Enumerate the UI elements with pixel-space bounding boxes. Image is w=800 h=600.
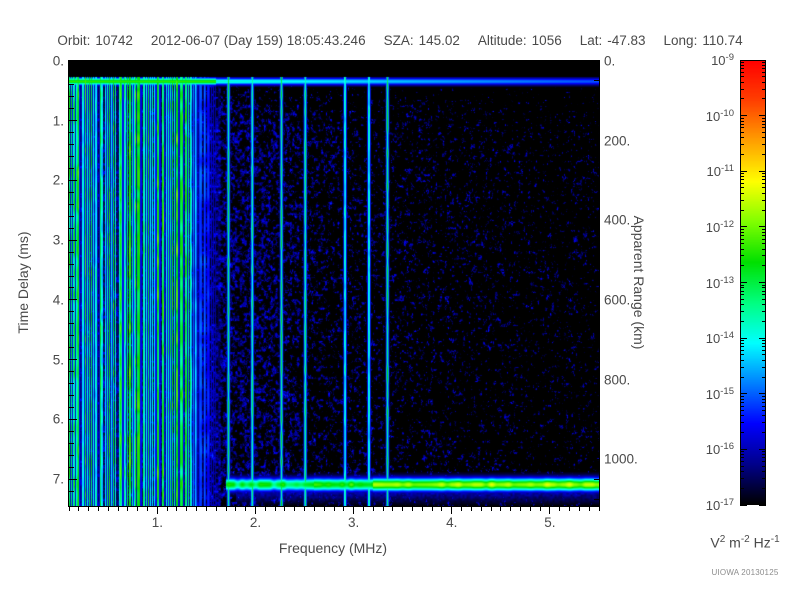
colorbar-tick-label: 10-9 [711, 52, 734, 68]
colorbar-tick-minor [740, 229, 744, 230]
x-tick-minor [343, 506, 344, 511]
y-tick-major [69, 240, 77, 241]
x-tick-minor [137, 506, 138, 511]
colorbar-tick-minor [740, 132, 744, 133]
colorbar-tick-minor [762, 200, 766, 201]
y-tick-minor [69, 264, 74, 265]
y-tick-minor [69, 228, 74, 229]
colorbar-tick-minor [762, 377, 766, 378]
colorbar-tick-minor [762, 183, 766, 184]
colorbar-tick-minor [762, 422, 766, 423]
x-tick-minor [284, 506, 285, 511]
y-tick-major [69, 299, 77, 300]
colorbar-tick-minor [762, 291, 766, 292]
colorbar-tick-minor [740, 294, 744, 295]
colorbar-tick-major [759, 393, 766, 394]
colorbar-tick-minor [762, 321, 766, 322]
y-axis-left-tick-label: 2. [53, 173, 64, 188]
colorbar-tick-minor [762, 265, 766, 266]
colorbar-tick-minor [740, 173, 744, 174]
y-right-tick-major [591, 61, 599, 62]
x-axis-tick-label: 4. [446, 515, 457, 530]
colorbar-tick-minor [740, 72, 744, 73]
spectrogram-image [69, 61, 599, 506]
colorbar-tick-major [740, 338, 747, 339]
x-tick-minor [520, 506, 521, 511]
colorbar-tick-minor [740, 255, 744, 256]
colorbar-tick-minor [740, 154, 744, 155]
y-right-tick-minor [594, 200, 599, 201]
header-field-label-0: Orbit: [57, 33, 90, 48]
header-field-value-0: 10742 [95, 33, 133, 48]
x-tick-minor [176, 506, 177, 511]
header-field-2: SZA:145.02 [384, 33, 460, 48]
colorbar-tick-minor [762, 232, 766, 233]
x-axis-tick-label: 3. [348, 515, 359, 530]
x-tick-major [255, 506, 256, 514]
y-axis-right-tick-label: 400. [604, 213, 630, 228]
y-right-tick-major [591, 299, 599, 300]
colorbar-tick-minor [740, 144, 744, 145]
x-tick-minor [402, 506, 403, 511]
ionogram-plot-area: 0.1.2.3.4.5.6.7. 0.200.400.600.800.1000.… [68, 60, 600, 507]
y-tick-major [69, 180, 77, 181]
colorbar-tick-minor [740, 89, 744, 90]
y-tick-minor [69, 108, 74, 109]
y-right-tick-minor [594, 499, 599, 500]
y-tick-minor [69, 252, 74, 253]
colorbar-tick-minor [762, 127, 766, 128]
colorbar-tick-minor [762, 121, 766, 122]
colorbar-tick-minor [762, 451, 766, 452]
x-tick-minor [530, 506, 531, 511]
colorbar-tick-major [740, 226, 747, 227]
colorbar-tick-minor [762, 304, 766, 305]
x-tick-minor [491, 506, 492, 511]
colorbar-tick-minor [762, 179, 766, 180]
colorbar-tick-minor [762, 350, 766, 351]
colorbar-tick-minor [762, 299, 766, 300]
colorbar-tick-label: 10-12 [706, 219, 734, 235]
y-axis-right-tick-label: 0. [604, 54, 615, 69]
colorbar-tick-label: 10-13 [706, 274, 734, 290]
y-right-tick-minor [594, 439, 599, 440]
colorbar-tick-minor [762, 311, 766, 312]
x-tick-minor [196, 506, 197, 511]
colorbar-tick-major [759, 505, 766, 506]
colorbar-tick-minor [740, 291, 744, 292]
colorbar-tick-minor [762, 410, 766, 411]
y-tick-minor [69, 323, 74, 324]
x-tick-minor [98, 506, 99, 511]
colorbar-tick-minor [740, 422, 744, 423]
y-tick-minor [69, 216, 74, 217]
header-field-0: Orbit:10742 [57, 33, 133, 48]
y-right-tick-minor [594, 160, 599, 161]
colorbar-tick-label: 10-17 [706, 497, 734, 513]
colorbar-tick-major [740, 393, 747, 394]
colorbar-tick-minor [740, 454, 744, 455]
colorbar-tick-minor [762, 173, 766, 174]
x-tick-minor [559, 506, 560, 511]
colorbar-tick-major [740, 449, 747, 450]
y-axis-left-tick-label: 6. [53, 412, 64, 427]
colorbar-tick-minor [740, 68, 744, 69]
colorbar-tick-minor [762, 466, 766, 467]
colorbar-tick-minor [740, 399, 744, 400]
x-tick-minor [422, 506, 423, 511]
y-tick-minor [69, 276, 74, 277]
y-axis-left-tick-label: 5. [53, 352, 64, 367]
colorbar-tick-minor [740, 137, 744, 138]
colorbar-tick-minor [762, 210, 766, 211]
colorbar-tick-minor [762, 144, 766, 145]
colorbar-tick-minor [740, 415, 744, 416]
header-field-5: Long:110.74 [664, 33, 743, 48]
colorbar-tick-minor [762, 118, 766, 119]
x-tick-minor [363, 506, 364, 511]
y-tick-major [69, 419, 77, 420]
header-field-value-3: 1056 [532, 33, 562, 48]
colorbar-tick-minor [762, 229, 766, 230]
y-tick-minor [69, 383, 74, 384]
y-axis-left-title: Time Delay (ms) [14, 60, 32, 505]
colorbar-tick-minor [762, 457, 766, 458]
y-tick-major [69, 479, 77, 480]
colorbar-tick-minor [762, 294, 766, 295]
colorbar-tick-minor [740, 210, 744, 211]
colorbar-tick-minor [740, 346, 744, 347]
colorbar-tick-minor [762, 415, 766, 416]
colorbar-tick-minor [762, 124, 766, 125]
y-tick-major [69, 359, 77, 360]
colorbar-tick-label: 10-11 [707, 163, 735, 179]
y-right-tick-minor [594, 260, 599, 261]
y-right-tick-minor [594, 120, 599, 121]
header-field-1: 2012-06-07 (Day 159) 18:05:43.246 [151, 33, 366, 48]
y-tick-minor [69, 132, 74, 133]
x-tick-major [353, 506, 354, 514]
y-tick-minor [69, 84, 74, 85]
colorbar-tick-minor [740, 124, 744, 125]
colorbar-tick-minor [740, 432, 744, 433]
x-tick-minor [441, 506, 442, 511]
colorbar-tick-major [759, 338, 766, 339]
colorbar-tick-minor [762, 471, 766, 472]
x-tick-minor [334, 506, 335, 511]
x-tick-minor [206, 506, 207, 511]
colorbar-tick-minor [740, 478, 744, 479]
colorbar-tick-minor [762, 255, 766, 256]
colorbar-tick-minor [762, 132, 766, 133]
header-field-label-5: Long: [664, 33, 698, 48]
x-tick-minor [108, 506, 109, 511]
y-tick-minor [69, 96, 74, 97]
colorbar-tick-minor [740, 285, 744, 286]
y-tick-minor [69, 371, 74, 372]
header-field-value-1: 2012-06-07 (Day 159) 18:05:43.246 [151, 33, 366, 48]
x-tick-minor [69, 506, 70, 511]
x-tick-minor [265, 506, 266, 511]
y-axis-left-tick-label: 1. [53, 113, 64, 128]
colorbar-tick-label: 10-15 [706, 386, 734, 402]
x-tick-minor [471, 506, 472, 511]
y-right-tick-minor [594, 100, 599, 101]
colorbar-tick-major [740, 115, 747, 116]
y-tick-minor [69, 407, 74, 408]
y-tick-minor [69, 72, 74, 73]
colorbar: 10-910-1010-1110-1210-1310-1410-1510-161… [740, 60, 766, 505]
x-tick-minor [127, 506, 128, 511]
y-tick-minor [69, 335, 74, 336]
colorbar-tick-minor [740, 121, 744, 122]
x-axis-tick-label: 2. [250, 515, 261, 530]
colorbar-tick-major [759, 171, 766, 172]
colorbar-units-label: V2 m-2 Hz-1 [690, 534, 800, 551]
colorbar-tick-minor [740, 193, 744, 194]
x-axis-tick-label: 1. [152, 515, 163, 530]
colorbar-tick-minor [740, 457, 744, 458]
header-field-value-4: -47.83 [607, 33, 645, 48]
colorbar-tick-minor [740, 488, 744, 489]
colorbar-tick-minor [740, 287, 744, 288]
y-axis-right-tick-label: 600. [604, 292, 630, 307]
colorbar-tick-minor [740, 354, 744, 355]
y-tick-minor [69, 347, 74, 348]
y-tick-minor [69, 192, 74, 193]
x-tick-minor [314, 506, 315, 511]
y-right-tick-minor [594, 479, 599, 480]
colorbar-tick-minor [740, 239, 744, 240]
colorbar-tick-minor [740, 350, 744, 351]
colorbar-tick-minor [740, 179, 744, 180]
colorbar-tick-minor [740, 340, 744, 341]
x-tick-minor [510, 506, 511, 511]
colorbar-tick-minor [762, 235, 766, 236]
x-tick-major [549, 506, 550, 514]
colorbar-tick-minor [762, 454, 766, 455]
colorbar-tick-major [759, 115, 766, 116]
colorbar-tick-minor [762, 343, 766, 344]
x-tick-minor [226, 506, 227, 511]
colorbar-tick-minor [740, 127, 744, 128]
x-tick-minor [412, 506, 413, 511]
y-tick-minor [69, 467, 74, 468]
y-tick-minor [69, 455, 74, 456]
colorbar-tick-minor [762, 62, 766, 63]
colorbar-tick-minor [762, 402, 766, 403]
y-right-tick-minor [594, 339, 599, 340]
colorbar-tick-minor [740, 377, 744, 378]
colorbar-tick-minor [740, 402, 744, 403]
colorbar-tick-minor [762, 249, 766, 250]
colorbar-tick-minor [740, 466, 744, 467]
y-tick-minor [69, 443, 74, 444]
colorbar-tick-major [740, 282, 747, 283]
x-axis-tick-label: 5. [544, 515, 555, 530]
colorbar-tick-minor [740, 321, 744, 322]
colorbar-tick-minor [762, 137, 766, 138]
y-axis-right-tick-label: 200. [604, 133, 630, 148]
x-tick-minor [294, 506, 295, 511]
y-tick-minor [69, 311, 74, 312]
x-tick-minor [432, 506, 433, 511]
header-field-value-2: 145.02 [419, 33, 460, 48]
colorbar-tick-minor [762, 406, 766, 407]
y-tick-minor [69, 156, 74, 157]
colorbar-tick-minor [762, 243, 766, 244]
y-tick-minor [69, 491, 74, 492]
x-tick-major [451, 506, 452, 514]
colorbar-tick-minor [762, 98, 766, 99]
colorbar-tick-minor [762, 176, 766, 177]
colorbar-tick-major [740, 171, 747, 172]
colorbar-tick-minor [740, 360, 744, 361]
colorbar-tick-minor [762, 346, 766, 347]
y-axis-left-tick-label: 7. [53, 472, 64, 487]
colorbar-tick-minor [762, 360, 766, 361]
y-axis-right-tick-label: 800. [604, 372, 630, 387]
x-tick-minor [216, 506, 217, 511]
colorbar-tick-minor [740, 451, 744, 452]
colorbar-tick-minor [740, 396, 744, 397]
y-right-tick-major [591, 379, 599, 380]
colorbar-tick-major [759, 226, 766, 227]
colorbar-tick-minor [740, 76, 744, 77]
x-tick-minor [579, 506, 580, 511]
colorbar-tick-minor [740, 304, 744, 305]
y-tick-minor [69, 287, 74, 288]
colorbar-tick-minor [762, 82, 766, 83]
colorbar-tick-major [740, 60, 747, 61]
y-right-tick-minor [594, 180, 599, 181]
colorbar-tick-minor [762, 488, 766, 489]
y-tick-minor [69, 431, 74, 432]
colorbar-tick-minor [740, 249, 744, 250]
colorbar-tick-minor [762, 396, 766, 397]
colorbar-tick-minor [762, 461, 766, 462]
y-right-tick-major [591, 459, 599, 460]
y-tick-minor [69, 204, 74, 205]
colorbar-tick-minor [740, 98, 744, 99]
colorbar-tick-minor [740, 311, 744, 312]
x-tick-minor [147, 506, 148, 511]
colorbar-tick-minor [762, 239, 766, 240]
colorbar-tick-major [740, 505, 747, 506]
colorbar-tick-label: 10-16 [706, 441, 734, 457]
colorbar-tick-minor [740, 461, 744, 462]
colorbar-tick-minor [740, 265, 744, 266]
x-tick-minor [78, 506, 79, 511]
x-axis-title: Frequency (MHz) [68, 540, 598, 556]
x-tick-minor [245, 506, 246, 511]
header-field-label-3: Altitude: [478, 33, 527, 48]
y-axis-left-tick-label: 0. [53, 54, 64, 69]
colorbar-tick-minor [762, 89, 766, 90]
colorbar-tick-label: 10-10 [706, 107, 734, 123]
colorbar-tick-minor [762, 72, 766, 73]
x-tick-minor [118, 506, 119, 511]
colorbar-tick-minor [740, 299, 744, 300]
colorbar-tick-minor [762, 354, 766, 355]
y-right-tick-major [591, 140, 599, 141]
colorbar-tick-minor [740, 243, 744, 244]
y-axis-left-tick-label: 4. [53, 292, 64, 307]
header-field-3: Altitude:1056 [478, 33, 562, 48]
y-right-tick-minor [594, 319, 599, 320]
colorbar-tick-minor [762, 285, 766, 286]
x-tick-minor [599, 506, 600, 511]
x-tick-minor [383, 506, 384, 511]
y-axis-left-tick-label: 3. [53, 233, 64, 248]
x-tick-minor [392, 506, 393, 511]
y-right-tick-minor [594, 80, 599, 81]
colorbar-tick-minor [762, 287, 766, 288]
colorbar-tick-minor [740, 200, 744, 201]
x-tick-minor [235, 506, 236, 511]
colorbar-tick-major [759, 449, 766, 450]
x-tick-minor [186, 506, 187, 511]
colorbar-tick-minor [762, 478, 766, 479]
colorbar-tick-minor [740, 118, 744, 119]
x-tick-minor [589, 506, 590, 511]
y-tick-minor [69, 168, 74, 169]
colorbar-tick-minor [740, 187, 744, 188]
y-right-tick-major [591, 220, 599, 221]
credit-label: UIOWA 20130125 [690, 568, 800, 577]
x-tick-minor [275, 506, 276, 511]
x-tick-minor [304, 506, 305, 511]
header-field-4: Lat:-47.83 [580, 33, 646, 48]
x-tick-minor [461, 506, 462, 511]
colorbar-tick-minor [762, 187, 766, 188]
x-tick-minor [88, 506, 89, 511]
colorbar-tick-minor [740, 183, 744, 184]
colorbar-tick-minor [740, 65, 744, 66]
header-field-label-2: SZA: [384, 33, 414, 48]
colorbar-tick-minor [740, 62, 744, 63]
x-tick-minor [569, 506, 570, 511]
colorbar-tick-minor [740, 410, 744, 411]
y-tick-minor [69, 144, 74, 145]
y-right-tick-minor [594, 240, 599, 241]
x-tick-minor [324, 506, 325, 511]
colorbar-tick-label: 10-14 [706, 330, 734, 346]
colorbar-tick-minor [762, 65, 766, 66]
colorbar-tick-minor [740, 367, 744, 368]
y-tick-minor [69, 395, 74, 396]
x-tick-major [157, 506, 158, 514]
y-right-tick-minor [594, 280, 599, 281]
y-tick-major [69, 61, 77, 62]
colorbar-tick-minor [762, 68, 766, 69]
y-tick-major [69, 120, 77, 121]
x-tick-minor [540, 506, 541, 511]
colorbar-tick-minor [762, 399, 766, 400]
header-info-bar: Orbit:107422012-06-07 (Day 159) 18:05:43… [0, 30, 800, 50]
y-axis-right-title: Apparent Range (km) [630, 60, 648, 505]
colorbar-tick-major [759, 282, 766, 283]
colorbar-tick-minor [762, 154, 766, 155]
colorbar-tick-minor [762, 432, 766, 433]
colorbar-tick-minor [740, 406, 744, 407]
colorbar-tick-minor [740, 343, 744, 344]
colorbar-tick-minor [740, 235, 744, 236]
x-tick-minor [481, 506, 482, 511]
colorbar-tick-minor [762, 340, 766, 341]
colorbar-tick-minor [740, 176, 744, 177]
x-tick-minor [167, 506, 168, 511]
